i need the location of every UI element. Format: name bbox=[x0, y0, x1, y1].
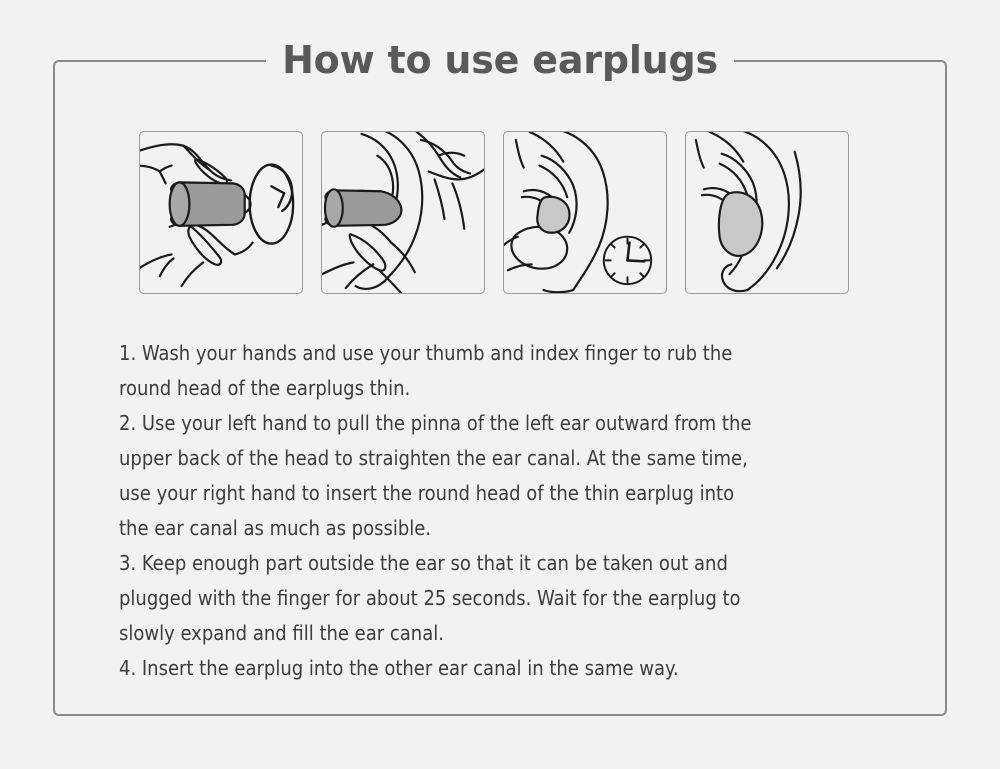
roll-earplug-drawing bbox=[140, 132, 302, 293]
rotation-arrow-icon bbox=[250, 165, 293, 244]
instruction-line: 2. Use your left hand to pull the pinna … bbox=[119, 406, 799, 441]
instruction-line: the ear canal as much as possible. bbox=[119, 511, 799, 546]
instruction-line: 4. Insert the earplug into the other ear… bbox=[119, 651, 799, 686]
instructions-block: 1. Wash your hands and use your thumb an… bbox=[119, 336, 799, 686]
earplug-seated-drawing bbox=[686, 132, 848, 293]
illustration-panel-hold-earplug bbox=[503, 131, 667, 294]
clock-icon bbox=[604, 237, 651, 284]
instruction-line: plugged with the finger for about 25 sec… bbox=[119, 581, 799, 616]
instruction-line: 3. Keep enough part outside the ear so t… bbox=[119, 546, 799, 581]
instruction-line: slowly expand and fill the ear canal. bbox=[119, 616, 799, 651]
illustration-panel-earplug-seated bbox=[685, 131, 849, 294]
how-to-use-earplugs-infographic: How to use earplugs bbox=[0, 0, 1000, 769]
hold-earplug-drawing bbox=[504, 132, 666, 293]
instruction-line: 1. Wash your hands and use your thumb an… bbox=[119, 336, 799, 371]
instruction-line: upper back of the head to straighten the… bbox=[119, 441, 799, 476]
instruction-line: round head of the earplugs thin. bbox=[119, 371, 799, 406]
insert-earplug-drawing bbox=[322, 132, 484, 293]
illustration-panel-roll-earplug bbox=[139, 131, 303, 294]
illustration-panel-row bbox=[139, 131, 851, 294]
instruction-line: use your right hand to insert the round … bbox=[119, 476, 799, 511]
illustration-panel-insert-earplug bbox=[321, 131, 485, 294]
